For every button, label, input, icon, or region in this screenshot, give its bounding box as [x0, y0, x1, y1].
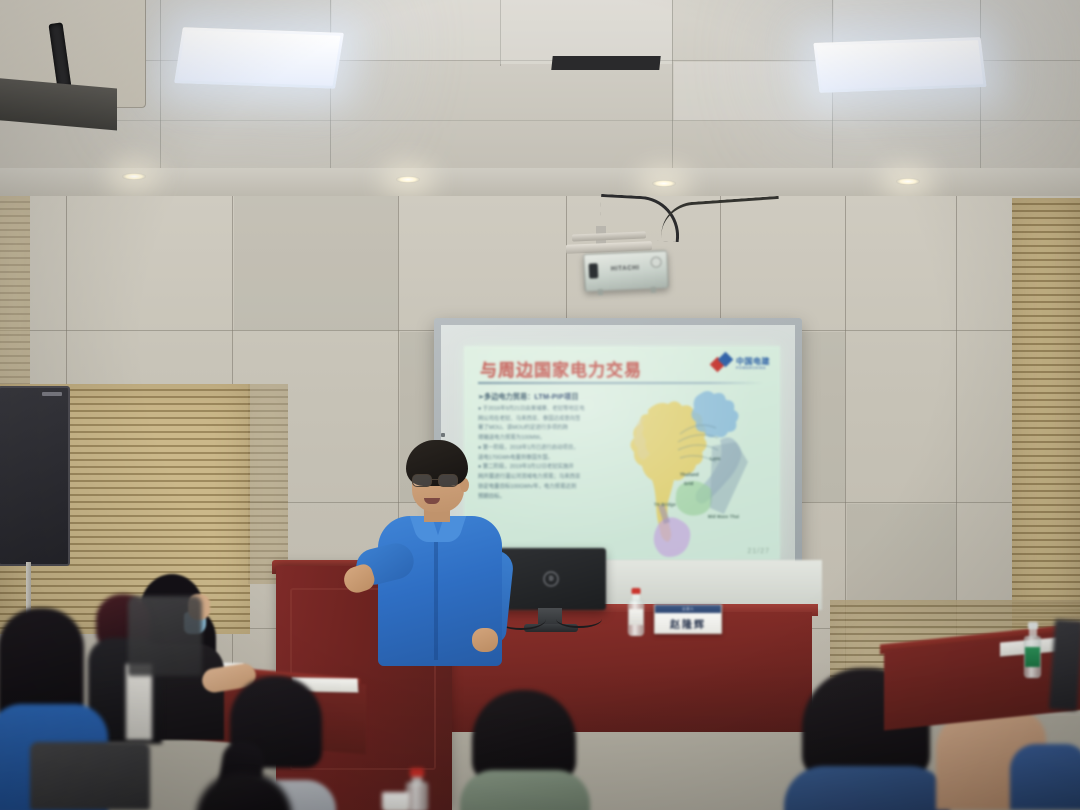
projector-focus-dial[interactable]: [650, 256, 661, 267]
lead-highlight: LTM-PIP项: [534, 392, 571, 401]
map-region-cambodia: [676, 481, 713, 516]
air-conditioner-vent: [0, 0, 146, 108]
map-region-vietnam-coast: [710, 442, 748, 514]
wood-slat-wall-panel: [1012, 198, 1080, 638]
wood-slat-wall-panel: [248, 384, 288, 584]
recessed-downlight: [896, 178, 920, 185]
recessed-downlight: [396, 176, 420, 183]
student-shirt: [460, 770, 590, 810]
bottle-label: [1025, 647, 1040, 667]
ac-louver-icon: [48, 22, 71, 89]
bottle-cap-icon: [1028, 622, 1038, 629]
bottle-cap-icon: [410, 768, 424, 777]
projector-brand-label: HITACHI: [611, 265, 640, 272]
laptop[interactable]: [1049, 619, 1080, 711]
water-bottle[interactable]: [628, 588, 644, 636]
student-shirt: [1010, 744, 1080, 810]
bottle-label: [629, 609, 643, 625]
nameplate-speaker-name: 赵隆辉: [670, 613, 706, 633]
logo-chinese-name: 中国电建: [736, 358, 770, 366]
eyeglasses-icon: [410, 474, 466, 487]
slide-title: 与周边国家电力交易: [480, 356, 642, 381]
paper-cup[interactable]: [382, 792, 410, 810]
lecture-hall-photo: HITACHI 与周边国家电力交易 中国电建 POWERCHINA ➢多边电力贸…: [0, 0, 1080, 810]
ceiling-projector: HITACHI: [583, 250, 669, 292]
ceiling-light-panel: [174, 27, 344, 89]
map-region-laos: [691, 391, 738, 437]
nameplate-header-bar: 主讲人: [655, 605, 721, 613]
display-brand-icon: [42, 392, 62, 396]
map-label: Laos: [710, 456, 721, 461]
lecture-chair[interactable]: [30, 742, 150, 810]
slide-bullet: 网公司在老挝、马来西亚、泰国达成意向签: [478, 415, 620, 424]
map-label: Thailand: [680, 472, 699, 477]
presenter: [372, 440, 512, 670]
lecture-chair[interactable]: [128, 596, 202, 676]
map-region-malaysia: [654, 517, 691, 557]
presenter-resting-hand: [472, 628, 498, 652]
ceiling-light-panel: [813, 37, 986, 93]
map-label: Grid: [684, 481, 693, 486]
dell-logo-icon: D: [544, 572, 559, 587]
wall-mounted-display[interactable]: [0, 386, 70, 566]
nameplate-header-text: 主讲人: [682, 607, 694, 612]
student-shirt: [784, 766, 950, 810]
ceiling: [0, 0, 1080, 175]
student-hair: [196, 772, 292, 810]
wood-slat-wall-panel: [0, 196, 30, 386]
student-foreground: [196, 772, 292, 810]
southeast-asia-map: Laos Thailand Grid TH Bridge Mid Mass Th…: [624, 388, 776, 558]
powerchina-logo: 中国电建 POWERCHINA: [712, 354, 770, 374]
water-bottle[interactable]: [1024, 622, 1041, 678]
powerchina-diamond-icon: [712, 354, 732, 374]
projector-lens-icon: [589, 263, 599, 278]
monitor-cable: [556, 610, 602, 628]
slide-bullet: 署了MOU。该MOU约定进行多项的跨: [478, 424, 620, 433]
slide-page-number: 21/27: [747, 548, 770, 555]
speaker-nameplate: 主讲人 赵隆辉: [654, 604, 722, 634]
presenter-monitor[interactable]: D: [496, 548, 606, 610]
lead-prefix: ➢多边电力贸易：: [478, 392, 534, 401]
student-hair: [472, 690, 576, 782]
slide-title-rule: [478, 382, 764, 384]
map-label: Mid Mass Thai: [708, 514, 739, 519]
map-label: TH Bridge: [654, 502, 676, 507]
logo-english-name: POWERCHINA: [736, 367, 770, 371]
lead-suffix: 目: [571, 392, 578, 401]
ceiling-cable-recess: [551, 56, 660, 70]
recessed-downlight: [652, 180, 676, 187]
slide-bullet: ● 于2016年9月21日由柬埔寨、老挝等地区电: [478, 405, 620, 414]
slide-lead-bullet: ➢多边电力贸易：LTM-PIP项目: [478, 392, 620, 403]
student-foreground: [466, 690, 586, 810]
recessed-downlight: [122, 173, 146, 180]
